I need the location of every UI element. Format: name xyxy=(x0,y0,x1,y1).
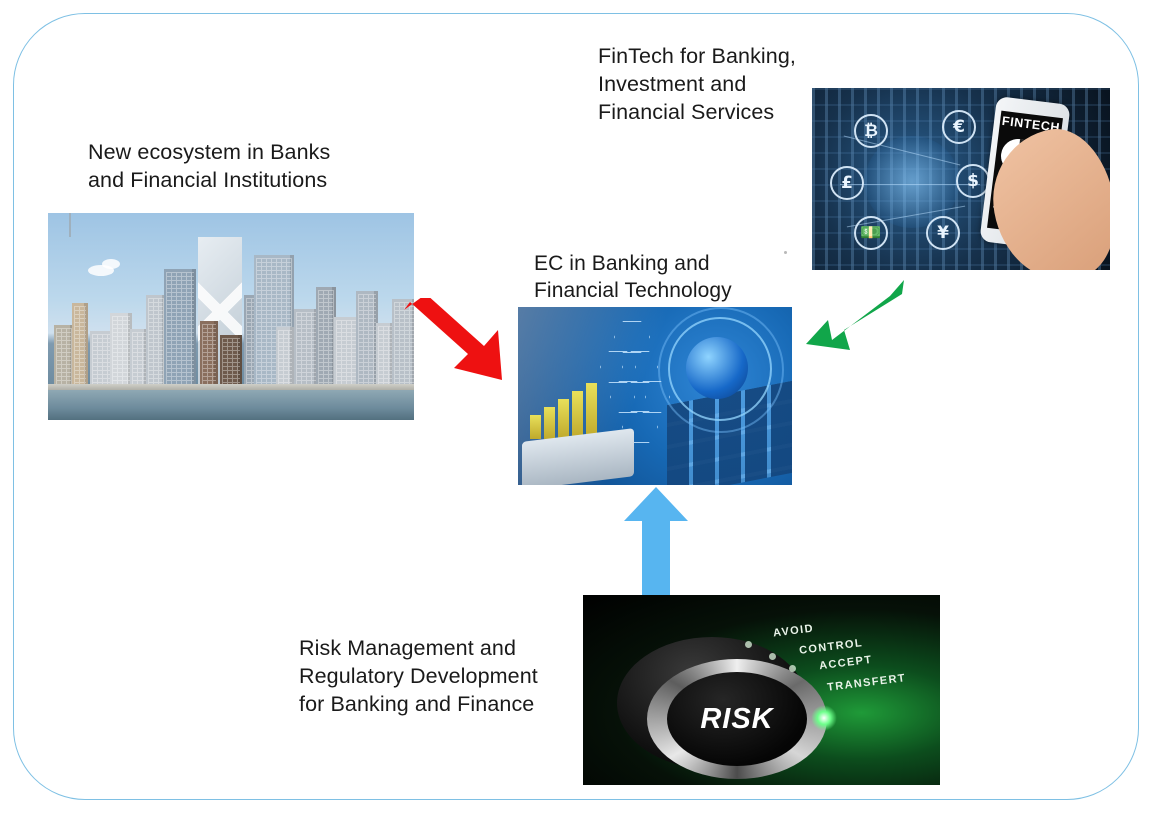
image-risk-dial: RISK AVOID CONTROL ACCEPT TRANSFERT xyxy=(583,595,940,785)
dial-ring: RISK xyxy=(647,659,827,779)
option-marker xyxy=(745,641,752,648)
label-ec-center: EC in Banking and Financial Technology xyxy=(534,250,732,304)
risk-option-transfert: TRANSFERT xyxy=(827,672,907,694)
building xyxy=(276,327,294,387)
building xyxy=(72,303,88,387)
tower-mast xyxy=(69,213,71,237)
option-marker xyxy=(769,653,776,660)
blue-arrow xyxy=(620,487,692,595)
image-ec-banking xyxy=(518,307,792,485)
building xyxy=(164,269,196,387)
chart-bar xyxy=(586,383,597,439)
option-marker xyxy=(789,665,796,672)
dial-glow xyxy=(811,705,837,731)
label-new-ecosystem: New ecosystem in Banks and Financial Ins… xyxy=(88,138,330,194)
red-arrow xyxy=(398,298,508,384)
risk-option-control: CONTROL xyxy=(799,637,864,657)
building xyxy=(220,335,242,387)
risk-option-avoid: AVOID xyxy=(772,623,814,640)
chart-bar xyxy=(558,399,569,439)
image-artifact-dot xyxy=(784,251,787,254)
building xyxy=(316,287,336,387)
chart-bar xyxy=(530,415,541,439)
chart-bar xyxy=(544,407,555,439)
harbour-water xyxy=(48,390,414,420)
risk-option-accept: ACCEPT xyxy=(818,654,873,672)
image-fintech: ₿ € £ $ 💵 ¥ FINTECH xyxy=(812,88,1110,270)
euro-icon: € xyxy=(942,110,976,144)
label-risk-management: Risk Management and Regulatory Developme… xyxy=(299,634,538,718)
building xyxy=(294,309,318,387)
dial-base: RISK xyxy=(617,637,807,769)
bitcoin-icon: ₿ xyxy=(854,114,888,148)
building xyxy=(54,325,74,387)
chart-bar xyxy=(572,391,583,439)
globe-icon xyxy=(686,337,748,399)
building xyxy=(110,313,132,387)
cloud-shape xyxy=(102,259,120,269)
building xyxy=(146,295,166,387)
bank-note-icon: 💵 xyxy=(854,216,888,250)
yen-icon: ¥ xyxy=(926,216,960,250)
pound-icon: £ xyxy=(830,166,864,200)
label-fintech: FinTech for Banking, Investment and Fina… xyxy=(598,42,796,126)
image-bank-skyline xyxy=(48,213,414,420)
dial-label: RISK xyxy=(667,672,807,766)
building xyxy=(200,321,218,387)
building xyxy=(356,291,378,387)
green-arrow xyxy=(806,272,910,350)
dial-face: RISK xyxy=(667,672,807,766)
